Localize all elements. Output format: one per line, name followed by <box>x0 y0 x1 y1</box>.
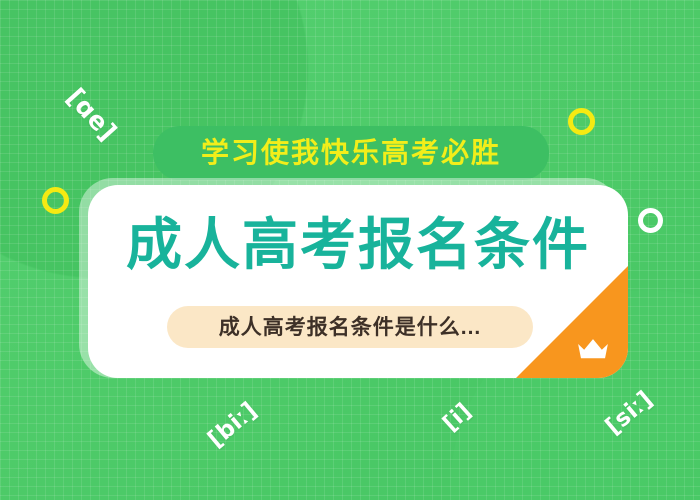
subtitle-pill: 成人高考报名条件是什么... <box>167 306 533 348</box>
poster-canvas: [ɑe] [biː] [i] [siː] 学习使我快乐高考必胜 成人高考报名条件… <box>0 0 700 500</box>
crown-icon <box>576 336 610 362</box>
decorative-ring-yellow-right <box>568 108 595 135</box>
decorative-ring-white-right <box>638 208 663 233</box>
page-title: 成人高考报名条件 <box>88 217 628 273</box>
decorative-ring-yellow-left <box>42 187 69 214</box>
subtitle-text: 成人高考报名条件是什么... <box>219 317 482 338</box>
top-banner-text: 学习使我快乐高考必胜 <box>201 139 501 167</box>
corner-wedge <box>516 266 628 378</box>
main-card: 成人高考报名条件 成人高考报名条件是什么... <box>88 185 628 378</box>
top-banner: 学习使我快乐高考必胜 <box>153 126 549 180</box>
